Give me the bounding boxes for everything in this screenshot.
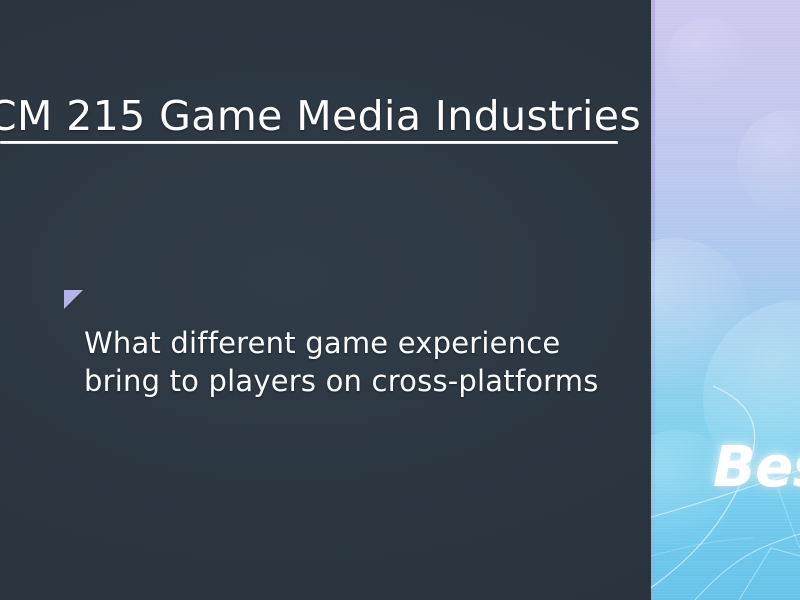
panel-swoosh-lines (651, 0, 800, 600)
slide-content-panel: CM 215 Game Media Industries What differ… (0, 0, 651, 600)
body-text-line-1: What different game experience (84, 324, 624, 362)
decoration-panel: Bes (651, 0, 800, 600)
panel-watermark-text: Bes (713, 436, 800, 500)
presentation-slide: CM 215 Game Media Industries What differ… (0, 0, 800, 600)
title-underline-rule (0, 141, 618, 144)
page-title: CM 215 Game Media Industries (0, 92, 620, 140)
slide-title-block: CM 215 Game Media Industries (0, 92, 620, 140)
triangle-bullet-icon (64, 290, 83, 309)
body-text-line-2: bring to players on cross-platforms (84, 362, 624, 400)
body-text: What different game experience bring to … (84, 324, 624, 400)
